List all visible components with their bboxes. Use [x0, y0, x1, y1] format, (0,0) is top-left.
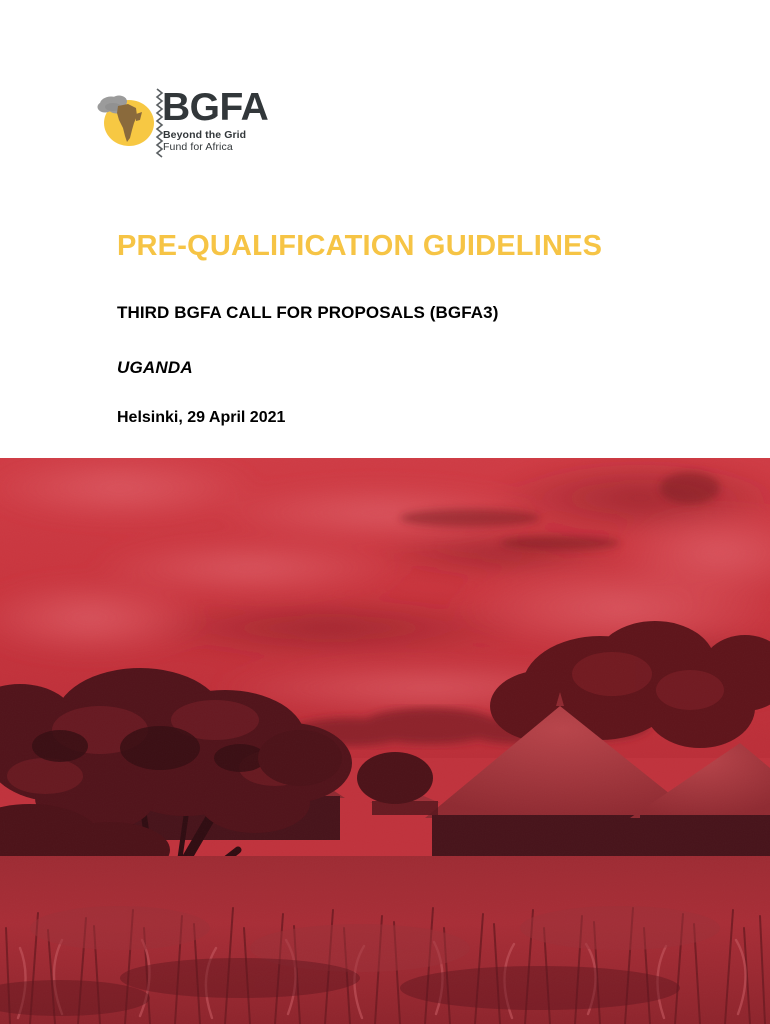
logo-brand-name: BGFA	[162, 88, 268, 128]
bgfa-wordmark: BGFA Beyond the Grid Fund for Africa	[162, 88, 268, 153]
logo-tagline-line2: Fund for Africa	[163, 141, 268, 153]
document-subtitle: THIRD BGFA CALL FOR PROPOSALS (BGFA3)	[117, 302, 717, 324]
hero-photograph	[0, 458, 770, 1024]
logo-tagline-line1: Beyond the Grid	[163, 129, 268, 141]
document-place-and-date: Helsinki, 29 April 2021	[117, 407, 717, 429]
bgfa-logo: BGFA Beyond the Grid Fund for Africa	[96, 88, 396, 164]
document-country: UGANDA	[117, 357, 717, 379]
title-block: PRE-QUALIFICATION GUIDELINES THIRD BGFA …	[117, 226, 717, 429]
document-cover-page: BGFA Beyond the Grid Fund for Africa PRE…	[0, 0, 770, 1024]
page-title: PRE-QUALIFICATION GUIDELINES	[117, 226, 717, 266]
sun-cloud-africa-icon	[96, 90, 158, 152]
